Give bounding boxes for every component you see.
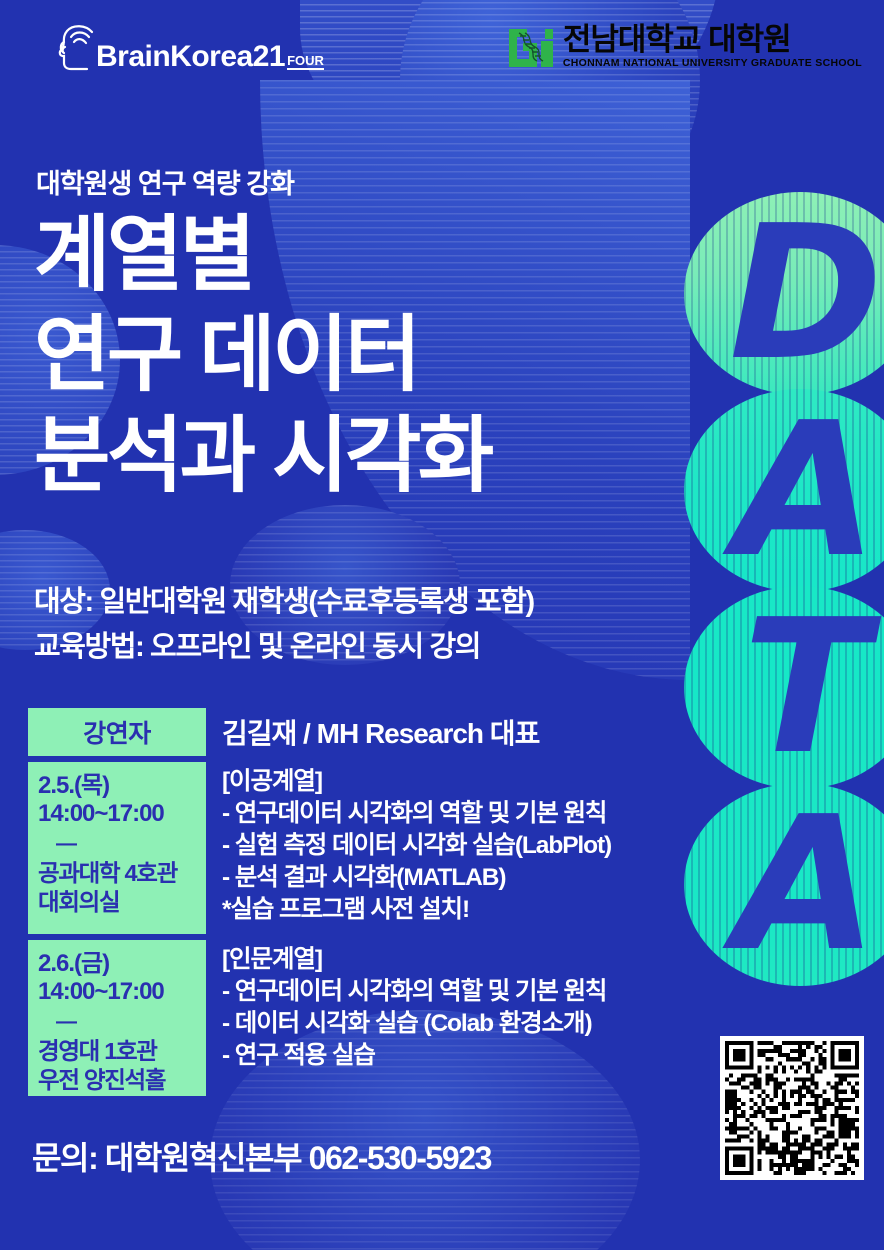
poster-subtitle: 대학원생 연구 역량 강화 bbox=[36, 162, 294, 201]
schedule-session-content: [이공계열] - 연구데이터 시각화의 역할 및 기본 원칙 - 실험 측정 데… bbox=[206, 762, 611, 934]
data-letter-graphic: D A T A bbox=[684, 192, 884, 980]
audience-line: 대상: 일반대학원 재학생(수료후등록생 포함) bbox=[34, 580, 534, 625]
poster-title: 계열별 연구 데이터 분석과 시각화 bbox=[34, 205, 491, 506]
data-letter-d: D bbox=[684, 192, 884, 395]
cnu-english-name: CHONNAM NATIONAL UNIVERSITY GRADUATE SCH… bbox=[563, 57, 862, 69]
speaker-name: 김길재 / MH Research 대표 bbox=[206, 708, 539, 756]
schedule-session-content: [인문계열] - 연구데이터 시각화의 역할 및 기본 원칙 - 데이터 시각화… bbox=[206, 940, 606, 1096]
data-letter-a1: A bbox=[684, 389, 884, 592]
cnu-graduate-school-logo: 전남대학교 대학원 CHONNAM NATIONAL UNIVERSITY GR… bbox=[507, 24, 862, 71]
cnu-korean-name: 전남대학교 대학원 bbox=[563, 24, 862, 55]
contact-line: 문의: 대학원혁신본부 062-530-5923 bbox=[32, 1133, 491, 1179]
speaker-row: 강연자 김길재 / MH Research 대표 bbox=[28, 708, 688, 756]
qr-code[interactable] bbox=[720, 1036, 864, 1180]
method-line: 교육방법: 오프라인 및 온라인 동시 강의 bbox=[34, 625, 534, 670]
schedule-row: 2.6.(금) 14:00~17:00 — 경영대 1호관 우전 양진석홀 [인… bbox=[28, 940, 688, 1096]
data-letter-circle: A bbox=[684, 389, 884, 592]
schedule-divider: — bbox=[38, 832, 206, 857]
data-letter-circle: T bbox=[684, 586, 884, 789]
schedule-time: 14:00~17:00 bbox=[38, 800, 206, 828]
cnu-logo-text: 전남대학교 대학원 CHONNAM NATIONAL UNIVERSITY GR… bbox=[563, 24, 862, 69]
schedule-place-line2: 우전 양진석홀 bbox=[38, 1066, 206, 1094]
schedule-date: 2.6.(금) bbox=[38, 950, 206, 978]
schedule-datetime-cell: 2.5.(목) 14:00~17:00 — 공과대학 4호관 대회의실 bbox=[28, 762, 206, 934]
poster-header: BrainKorea21 FOUR 전남대학교 대학원 CHONNA bbox=[0, 0, 884, 95]
brain-head-icon bbox=[56, 22, 98, 74]
schedule-row: 2.5.(목) 14:00~17:00 — 공과대학 4호관 대회의실 [이공계… bbox=[28, 762, 688, 934]
data-letter-t: T bbox=[684, 586, 884, 789]
qr-code-icon bbox=[725, 1041, 859, 1175]
speaker-label: 강연자 bbox=[28, 708, 206, 756]
brainkorea21-four-label: FOUR bbox=[287, 54, 324, 70]
cnu-emblem-icon bbox=[507, 25, 555, 71]
poster-meta: 대상: 일반대학원 재학생(수료후등록생 포함) 교육방법: 오프라인 및 온라… bbox=[34, 580, 534, 670]
brainkorea21-wordmark: BrainKorea21 bbox=[96, 42, 285, 72]
schedule-divider: — bbox=[38, 1010, 206, 1035]
brainkorea21-logo: BrainKorea21 FOUR bbox=[56, 22, 324, 74]
schedule-table: 강연자 김길재 / MH Research 대표 2.5.(목) 14:00~1… bbox=[28, 708, 688, 1102]
data-letter-a2: A bbox=[684, 783, 884, 986]
schedule-datetime-cell: 2.6.(금) 14:00~17:00 — 경영대 1호관 우전 양진석홀 bbox=[28, 940, 206, 1096]
schedule-place-line2: 대회의실 bbox=[38, 888, 206, 916]
schedule-date: 2.5.(목) bbox=[38, 772, 206, 800]
schedule-time: 14:00~17:00 bbox=[38, 978, 206, 1006]
schedule-place-line1: 공과대학 4호관 bbox=[38, 859, 206, 887]
schedule-place-line1: 경영대 1호관 bbox=[38, 1037, 206, 1065]
data-letter-circle: D bbox=[684, 192, 884, 395]
poster-root: BrainKorea21 FOUR 전남대학교 대학원 CHONNA bbox=[0, 0, 884, 1250]
data-letter-circle: A bbox=[684, 783, 884, 986]
